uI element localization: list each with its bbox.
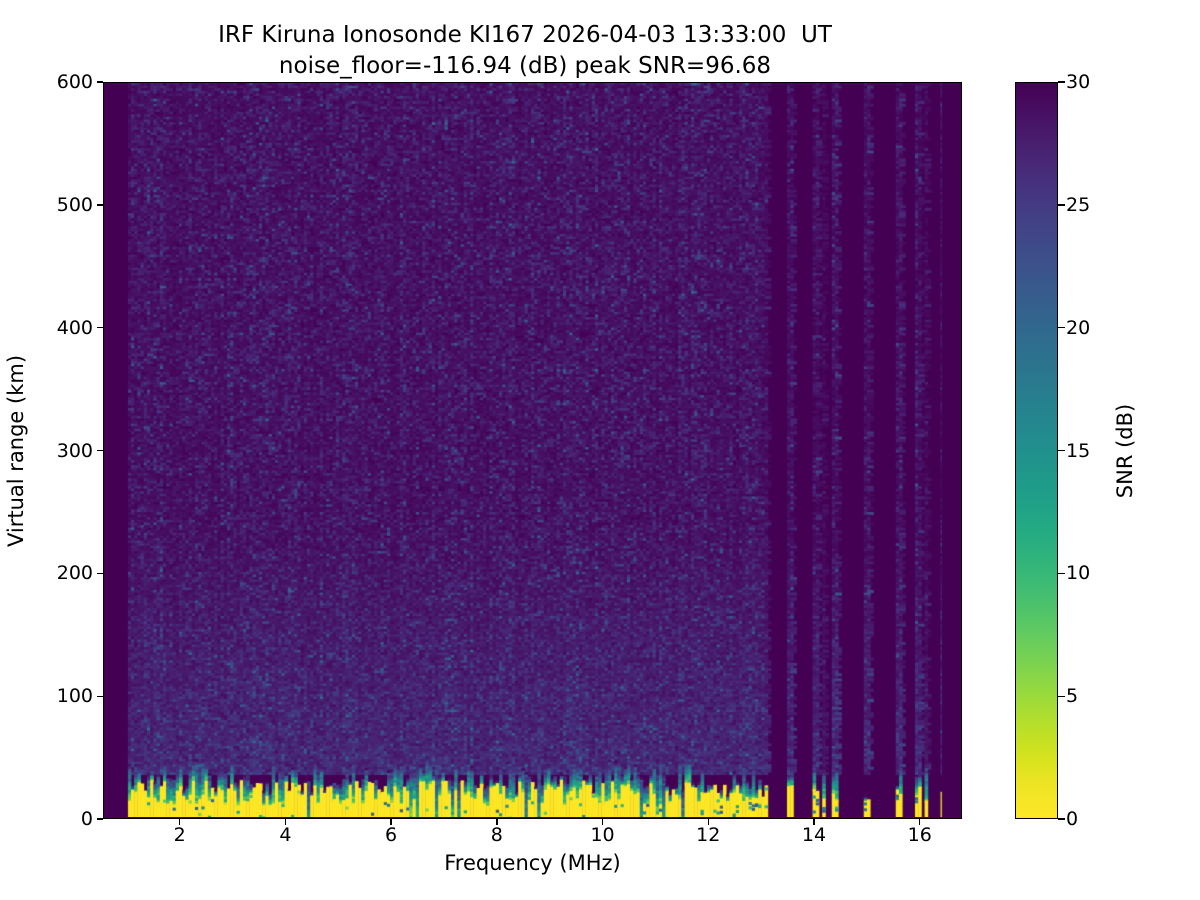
y-tick-mark bbox=[97, 204, 103, 205]
y-tick-mark bbox=[97, 818, 103, 819]
colorbar-tick-mark bbox=[1058, 204, 1065, 205]
y-tick-mark bbox=[97, 573, 103, 574]
x-tick-mark bbox=[919, 819, 920, 825]
colorbar-label: SNR (dB) bbox=[1113, 403, 1137, 497]
x-tick-label: 6 bbox=[351, 826, 431, 845]
x-tick-mark bbox=[390, 819, 391, 825]
y-axis-label: Virtual range (km) bbox=[4, 354, 28, 546]
colorbar-tick-label: 5 bbox=[1066, 687, 1078, 706]
x-axis-label: Frequency (MHz) bbox=[103, 851, 962, 875]
y-tick-mark bbox=[97, 696, 103, 697]
colorbar-tick-label: 10 bbox=[1066, 564, 1090, 583]
x-tick-mark bbox=[179, 819, 180, 825]
y-tick-label: 600 bbox=[0, 73, 93, 92]
x-tick-label: 12 bbox=[668, 826, 748, 845]
y-tick-label: 500 bbox=[0, 196, 93, 215]
colorbar-tick-label: 15 bbox=[1066, 442, 1090, 461]
x-tick-label: 4 bbox=[245, 826, 325, 845]
figure-title-line2: noise_floor=-116.94 (dB) peak SNR=96.68 bbox=[279, 53, 771, 79]
colorbar-tick-label: 20 bbox=[1066, 319, 1090, 338]
colorbar-tick-mark bbox=[1058, 450, 1065, 451]
ionogram-heatmap bbox=[104, 83, 960, 817]
colorbar-tick-mark bbox=[1058, 573, 1065, 574]
y-tick-mark bbox=[97, 327, 103, 328]
x-tick-mark bbox=[496, 819, 497, 825]
ionogram-plot-area bbox=[103, 82, 962, 819]
x-tick-label: 14 bbox=[774, 826, 854, 845]
x-tick-mark bbox=[813, 819, 814, 825]
x-tick-label: 8 bbox=[457, 826, 537, 845]
ionogram-figure: IRF Kiruna Ionosonde KI167 2026-04-03 13… bbox=[0, 0, 1200, 900]
colorbar-tick-mark bbox=[1058, 81, 1065, 82]
figure-title-line1: IRF Kiruna Ionosonde KI167 2026-04-03 13… bbox=[218, 22, 832, 48]
colorbar-gradient bbox=[1016, 83, 1057, 818]
figure-title: IRF Kiruna Ionosonde KI167 2026-04-03 13… bbox=[0, 20, 1050, 82]
y-tick-label: 200 bbox=[0, 564, 93, 583]
x-tick-mark bbox=[708, 819, 709, 825]
x-tick-mark bbox=[285, 819, 286, 825]
colorbar-tick-mark bbox=[1058, 818, 1065, 819]
colorbar-tick-label: 25 bbox=[1066, 196, 1090, 215]
y-tick-mark bbox=[97, 450, 103, 451]
x-tick-mark bbox=[602, 819, 603, 825]
x-tick-label: 2 bbox=[140, 826, 220, 845]
x-tick-label: 16 bbox=[880, 826, 960, 845]
colorbar-tick-mark bbox=[1058, 327, 1065, 328]
colorbar-tick-mark bbox=[1058, 696, 1065, 697]
colorbar bbox=[1015, 82, 1058, 819]
y-tick-mark bbox=[97, 81, 103, 82]
y-tick-label: 100 bbox=[0, 687, 93, 706]
colorbar-tick-label: 0 bbox=[1066, 810, 1078, 829]
colorbar-tick-label: 30 bbox=[1066, 73, 1090, 92]
y-tick-label: 0 bbox=[0, 810, 93, 829]
x-tick-label: 10 bbox=[563, 826, 643, 845]
y-tick-label: 400 bbox=[0, 319, 93, 338]
